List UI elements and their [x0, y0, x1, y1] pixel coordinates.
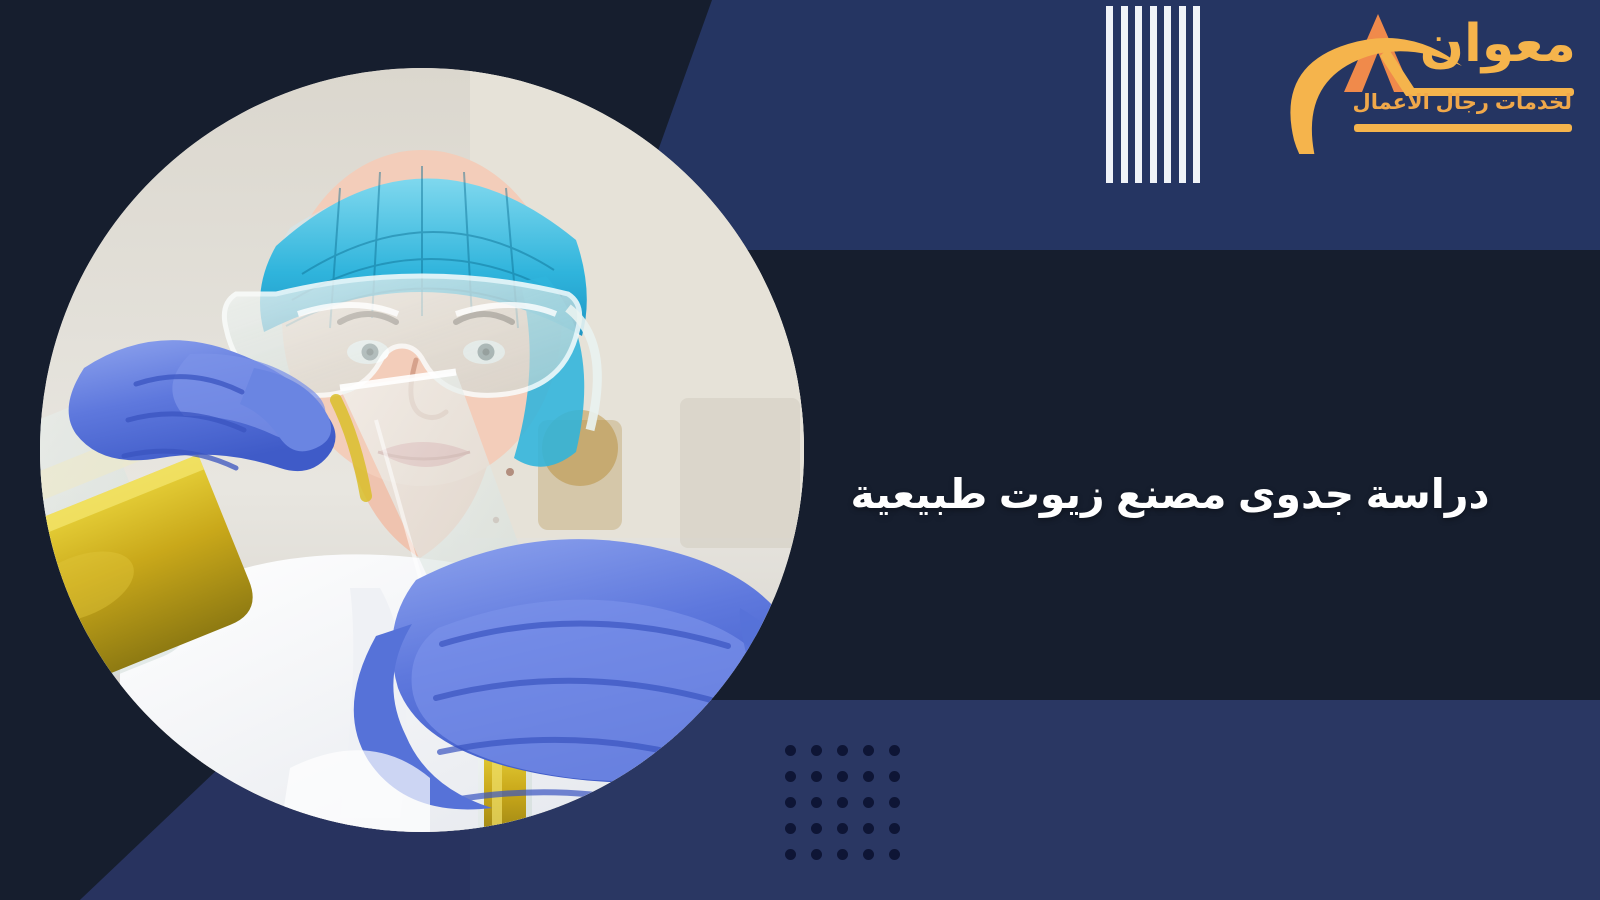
grid-dot: [863, 797, 874, 808]
grid-dot: [889, 849, 900, 860]
grid-dot: [889, 771, 900, 782]
vertical-bar: [1135, 6, 1142, 183]
hero-photo-circle: [40, 68, 804, 832]
dot-grid-decoration: [777, 737, 907, 867]
grid-dot: [889, 797, 900, 808]
grid-dot: [889, 745, 900, 756]
grid-dot: [837, 797, 848, 808]
vertical-bar: [1106, 6, 1113, 183]
grid-dot: [785, 771, 796, 782]
grid-dot: [837, 823, 848, 834]
grid-dot: [811, 745, 822, 756]
grid-dot: [785, 797, 796, 808]
vertical-bars-decoration: [1106, 6, 1206, 183]
grid-dot: [863, 849, 874, 860]
grid-dot: [837, 745, 848, 756]
page-title: دراسة جدوى مصنع زيوت طبيعية: [830, 467, 1510, 522]
grid-dot: [811, 849, 822, 860]
grid-dot: [811, 797, 822, 808]
grid-dot: [889, 823, 900, 834]
grid-dot: [837, 771, 848, 782]
brand-name: معوان: [1420, 18, 1576, 70]
vertical-bar: [1121, 6, 1128, 183]
grid-dot: [785, 823, 796, 834]
vertical-bar: [1150, 6, 1157, 183]
grid-dot: [863, 823, 874, 834]
banner-canvas: معوان لخدمات رجال الاعمال دراسة جدوى مصن…: [0, 0, 1600, 900]
grid-dot: [785, 849, 796, 860]
grid-dot: [811, 823, 822, 834]
vertical-bar: [1179, 6, 1186, 183]
grid-dot: [863, 771, 874, 782]
grid-dot: [811, 771, 822, 782]
vertical-bar: [1193, 6, 1200, 183]
brand-tagline: لخدمات رجال الاعمال: [1352, 92, 1572, 113]
grid-dot: [837, 849, 848, 860]
grid-dot: [785, 745, 796, 756]
lab-technician-illustration: [40, 68, 804, 832]
vertical-bar: [1164, 6, 1171, 183]
brand-logo[interactable]: معوان لخدمات رجال الاعمال: [1282, 4, 1582, 154]
grid-dot: [863, 745, 874, 756]
